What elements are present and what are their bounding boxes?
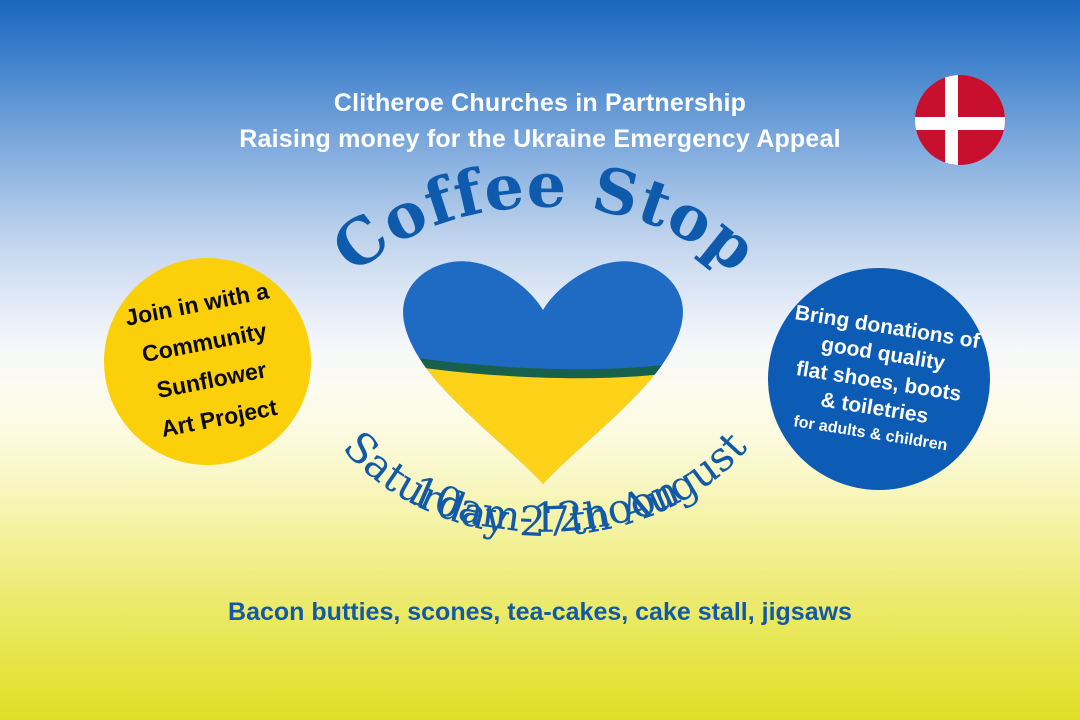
event-time-text: 10am-12noon [403,466,686,542]
sunflower-project-badge[interactable]: Join in with a Community Sunflower Art P… [104,258,311,465]
sunflower-project-text: Join in with a Community Sunflower Art P… [100,268,316,456]
denmark-flag-icon [915,75,1005,165]
refreshments-list: Bacon butties, scones, tea-cakes, cake s… [0,598,1080,627]
donations-badge[interactable]: Bring donations of good quality flat sho… [768,268,990,490]
flag-cross-horizontal [915,117,1005,130]
event-datetime-block: Saturday 27th August 10am-12noon [320,410,770,570]
donations-text: Bring donations of good quality flat sho… [764,297,994,462]
event-time-tspan: 10am-12noon [403,466,686,542]
poster-canvas: Clitheroe Churches in Partnership Raisin… [0,0,1080,720]
